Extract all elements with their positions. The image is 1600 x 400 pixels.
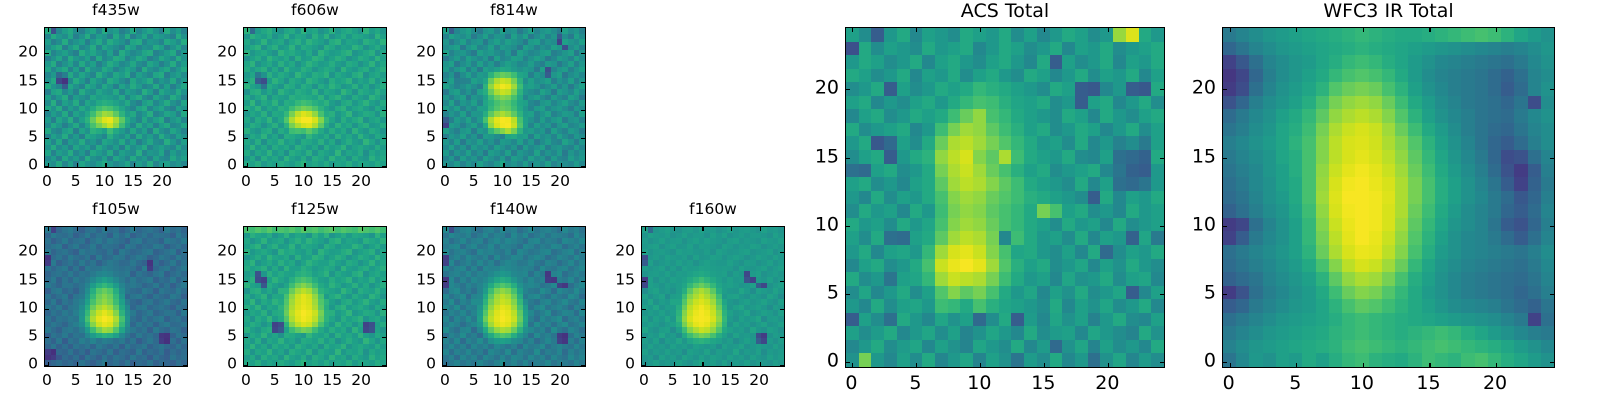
y-tick-mark bbox=[1550, 158, 1554, 159]
x-tick-mark bbox=[674, 362, 675, 366]
x-tick-mark bbox=[276, 362, 277, 366]
x-tick-mark bbox=[503, 227, 504, 231]
panel-title-f160w: f160w bbox=[641, 202, 785, 218]
x-tick-label: 15 bbox=[322, 373, 342, 389]
x-tick-mark bbox=[1363, 28, 1364, 32]
y-tick-label: 20 bbox=[0, 244, 38, 260]
y-tick-mark bbox=[183, 252, 187, 253]
heatmap-axes-f606w[interactable] bbox=[243, 27, 387, 168]
x-tick-mark bbox=[475, 227, 476, 231]
y-tick-label: 15 bbox=[398, 272, 436, 288]
x-tick-label: 20 bbox=[1095, 374, 1119, 393]
y-tick-mark bbox=[1160, 226, 1164, 227]
y-tick-mark bbox=[183, 110, 187, 111]
x-tick-mark bbox=[362, 28, 363, 32]
y-tick-label: 15 bbox=[0, 73, 38, 89]
x-tick-mark bbox=[163, 362, 164, 366]
y-tick-mark bbox=[846, 89, 850, 90]
x-tick-mark bbox=[333, 163, 334, 167]
x-tick-mark bbox=[446, 227, 447, 231]
y-tick-mark bbox=[581, 82, 585, 83]
x-tick-mark bbox=[362, 362, 363, 366]
y-tick-mark bbox=[1223, 362, 1227, 363]
y-tick-mark bbox=[382, 166, 386, 167]
y-tick-mark bbox=[244, 337, 248, 338]
x-tick-mark bbox=[1044, 28, 1045, 32]
x-tick-mark bbox=[105, 362, 106, 366]
y-tick-label: 5 bbox=[398, 328, 436, 344]
x-tick-label: 20 bbox=[550, 373, 570, 389]
x-tick-label: 0 bbox=[241, 373, 251, 389]
y-tick-label: 10 bbox=[1167, 215, 1216, 234]
x-tick-label: 5 bbox=[270, 373, 280, 389]
y-tick-mark bbox=[1550, 362, 1554, 363]
x-tick-mark bbox=[276, 28, 277, 32]
x-tick-mark bbox=[48, 28, 49, 32]
x-tick-mark bbox=[475, 163, 476, 167]
x-tick-mark bbox=[1108, 28, 1109, 32]
x-tick-mark bbox=[731, 362, 732, 366]
y-tick-label: 0 bbox=[790, 352, 839, 371]
panel-title-f125w: f125w bbox=[243, 202, 387, 218]
y-tick-mark bbox=[642, 365, 646, 366]
y-tick-mark bbox=[1223, 158, 1227, 159]
y-tick-label: 15 bbox=[597, 272, 635, 288]
y-tick-mark bbox=[443, 337, 447, 338]
y-tick-label: 0 bbox=[199, 157, 237, 173]
y-tick-mark bbox=[846, 362, 850, 363]
x-tick-mark bbox=[852, 28, 853, 32]
y-tick-label: 0 bbox=[0, 356, 38, 372]
x-tick-label: 15 bbox=[123, 373, 143, 389]
heatmap-axes-f814w[interactable] bbox=[442, 27, 586, 168]
panel-acs_total: ACS Total0510152005101520 bbox=[790, 0, 1165, 400]
panel-f105w: f105w0510152005101520 bbox=[0, 199, 188, 399]
x-tick-label: 0 bbox=[42, 373, 52, 389]
y-tick-label: 5 bbox=[0, 328, 38, 344]
heatmap-grid-f160w bbox=[642, 227, 784, 366]
y-tick-mark bbox=[1550, 89, 1554, 90]
y-tick-mark bbox=[244, 309, 248, 310]
x-tick-label: 10 bbox=[493, 373, 513, 389]
x-tick-mark bbox=[134, 362, 135, 366]
x-tick-label: 15 bbox=[322, 174, 342, 190]
panel-title-f606w: f606w bbox=[243, 3, 387, 19]
x-tick-label: 10 bbox=[1350, 374, 1374, 393]
x-tick-mark bbox=[916, 363, 917, 367]
x-tick-label: 15 bbox=[123, 174, 143, 190]
y-tick-mark bbox=[382, 110, 386, 111]
y-tick-mark bbox=[642, 281, 646, 282]
heatmap-axes-f125w[interactable] bbox=[243, 226, 387, 367]
panel-title-wfc3_ir_total: WFC3 IR Total bbox=[1222, 2, 1555, 21]
y-tick-mark bbox=[1223, 226, 1227, 227]
x-tick-mark bbox=[304, 362, 305, 366]
x-tick-mark bbox=[105, 227, 106, 231]
y-tick-mark bbox=[1160, 294, 1164, 295]
y-tick-mark bbox=[183, 365, 187, 366]
y-tick-label: 20 bbox=[1167, 79, 1216, 98]
x-tick-label: 15 bbox=[1031, 374, 1055, 393]
x-tick-mark bbox=[1496, 28, 1497, 32]
y-tick-mark bbox=[45, 82, 49, 83]
x-tick-mark bbox=[362, 227, 363, 231]
heatmap-grid-f140w bbox=[443, 227, 585, 366]
x-tick-mark bbox=[1044, 363, 1045, 367]
y-tick-mark bbox=[1160, 89, 1164, 90]
x-tick-mark bbox=[702, 362, 703, 366]
x-tick-label: 10 bbox=[294, 174, 314, 190]
x-tick-mark bbox=[731, 227, 732, 231]
x-tick-label: 20 bbox=[550, 174, 570, 190]
y-tick-mark bbox=[382, 281, 386, 282]
y-tick-mark bbox=[1550, 226, 1554, 227]
y-tick-mark bbox=[45, 281, 49, 282]
y-tick-mark bbox=[642, 337, 646, 338]
y-tick-mark bbox=[382, 53, 386, 54]
heatmap-grid-f606w bbox=[244, 28, 386, 167]
x-tick-mark bbox=[475, 28, 476, 32]
y-tick-mark bbox=[780, 365, 784, 366]
x-tick-mark bbox=[1296, 28, 1297, 32]
y-tick-label: 10 bbox=[199, 101, 237, 117]
y-tick-mark bbox=[45, 337, 49, 338]
panel-f140w: f140w0510152005101520 bbox=[398, 199, 586, 399]
x-tick-mark bbox=[702, 227, 703, 231]
panel-f435w: f435w0510152005101520 bbox=[0, 0, 188, 200]
x-tick-mark bbox=[645, 227, 646, 231]
x-tick-mark bbox=[852, 363, 853, 367]
x-tick-mark bbox=[48, 227, 49, 231]
figure-canvas: f435w0510152005101520f606w05101520051015… bbox=[0, 0, 1600, 400]
y-tick-label: 10 bbox=[199, 300, 237, 316]
y-tick-label: 10 bbox=[398, 101, 436, 117]
panel-f606w: f606w0510152005101520 bbox=[199, 0, 387, 200]
y-tick-label: 15 bbox=[199, 73, 237, 89]
panel-title-acs_total: ACS Total bbox=[845, 2, 1165, 21]
y-tick-label: 20 bbox=[597, 244, 635, 260]
y-tick-mark bbox=[642, 252, 646, 253]
x-tick-label: 10 bbox=[967, 374, 991, 393]
y-tick-mark bbox=[443, 309, 447, 310]
y-tick-mark bbox=[183, 337, 187, 338]
panel-title-f140w: f140w bbox=[442, 202, 586, 218]
y-tick-mark bbox=[443, 82, 447, 83]
y-tick-label: 15 bbox=[1167, 147, 1216, 166]
y-tick-mark bbox=[45, 365, 49, 366]
y-tick-mark bbox=[642, 309, 646, 310]
x-tick-label: 0 bbox=[1223, 374, 1235, 393]
y-tick-mark bbox=[443, 252, 447, 253]
panel-f814w: f814w0510152005101520 bbox=[398, 0, 586, 200]
x-tick-label: 20 bbox=[351, 174, 371, 190]
x-tick-label: 0 bbox=[42, 174, 52, 190]
y-tick-mark bbox=[45, 309, 49, 310]
y-tick-label: 5 bbox=[790, 283, 839, 302]
y-tick-mark bbox=[244, 110, 248, 111]
y-tick-label: 20 bbox=[199, 45, 237, 61]
x-tick-mark bbox=[760, 227, 761, 231]
y-tick-mark bbox=[846, 294, 850, 295]
x-tick-mark bbox=[333, 227, 334, 231]
x-tick-label: 20 bbox=[351, 373, 371, 389]
y-tick-label: 20 bbox=[398, 45, 436, 61]
y-tick-mark bbox=[382, 252, 386, 253]
x-tick-label: 0 bbox=[241, 174, 251, 190]
x-tick-mark bbox=[1429, 28, 1430, 32]
y-tick-label: 15 bbox=[398, 73, 436, 89]
y-tick-label: 0 bbox=[398, 157, 436, 173]
heatmap-grid-f435w bbox=[45, 28, 187, 167]
x-tick-mark bbox=[77, 362, 78, 366]
y-tick-mark bbox=[581, 309, 585, 310]
x-tick-mark bbox=[532, 163, 533, 167]
y-tick-mark bbox=[183, 82, 187, 83]
y-tick-label: 20 bbox=[790, 79, 839, 98]
y-tick-label: 15 bbox=[199, 272, 237, 288]
x-tick-label: 5 bbox=[71, 373, 81, 389]
y-tick-label: 10 bbox=[597, 300, 635, 316]
y-tick-mark bbox=[244, 252, 248, 253]
x-tick-label: 10 bbox=[692, 373, 712, 389]
x-tick-mark bbox=[276, 163, 277, 167]
panel-f125w: f125w0510152005101520 bbox=[199, 199, 387, 399]
y-tick-label: 10 bbox=[0, 300, 38, 316]
y-tick-mark bbox=[443, 110, 447, 111]
x-tick-mark bbox=[77, 28, 78, 32]
x-tick-mark bbox=[980, 363, 981, 367]
x-tick-label: 0 bbox=[845, 374, 857, 393]
x-tick-mark bbox=[333, 28, 334, 32]
x-tick-mark bbox=[304, 28, 305, 32]
y-tick-label: 20 bbox=[398, 244, 436, 260]
x-tick-mark bbox=[77, 227, 78, 231]
x-tick-label: 0 bbox=[440, 174, 450, 190]
y-tick-mark bbox=[1160, 158, 1164, 159]
x-tick-label: 15 bbox=[1416, 374, 1440, 393]
y-tick-label: 0 bbox=[597, 356, 635, 372]
y-tick-label: 15 bbox=[790, 147, 839, 166]
x-tick-mark bbox=[503, 362, 504, 366]
y-tick-mark bbox=[45, 252, 49, 253]
y-tick-mark bbox=[244, 53, 248, 54]
x-tick-label: 20 bbox=[1483, 374, 1507, 393]
y-tick-mark bbox=[45, 138, 49, 139]
x-tick-mark bbox=[247, 227, 248, 231]
panel-wfc3_ir_total: WFC3 IR Total0510152005101520 bbox=[1167, 0, 1555, 400]
y-tick-mark bbox=[382, 138, 386, 139]
x-tick-label: 5 bbox=[1289, 374, 1301, 393]
x-tick-label: 0 bbox=[440, 373, 450, 389]
y-tick-mark bbox=[183, 309, 187, 310]
x-tick-label: 20 bbox=[749, 373, 769, 389]
y-tick-mark bbox=[183, 281, 187, 282]
x-tick-mark bbox=[503, 28, 504, 32]
y-tick-mark bbox=[846, 226, 850, 227]
y-tick-mark bbox=[244, 82, 248, 83]
y-tick-mark bbox=[780, 309, 784, 310]
y-tick-label: 10 bbox=[398, 300, 436, 316]
x-tick-mark bbox=[77, 163, 78, 167]
y-tick-mark bbox=[443, 166, 447, 167]
x-tick-mark bbox=[561, 163, 562, 167]
x-tick-label: 20 bbox=[152, 174, 172, 190]
x-tick-mark bbox=[446, 28, 447, 32]
y-tick-mark bbox=[780, 337, 784, 338]
y-tick-label: 15 bbox=[0, 272, 38, 288]
y-tick-mark bbox=[581, 53, 585, 54]
y-tick-label: 0 bbox=[199, 356, 237, 372]
x-tick-mark bbox=[980, 28, 981, 32]
x-tick-mark bbox=[362, 163, 363, 167]
x-tick-mark bbox=[1230, 363, 1231, 367]
x-tick-mark bbox=[247, 28, 248, 32]
x-tick-mark bbox=[561, 227, 562, 231]
x-tick-mark bbox=[916, 28, 917, 32]
heatmap-grid-wfc3_ir_total bbox=[1223, 28, 1554, 367]
y-tick-mark bbox=[846, 158, 850, 159]
x-tick-mark bbox=[163, 28, 164, 32]
y-tick-mark bbox=[443, 138, 447, 139]
y-tick-mark bbox=[244, 166, 248, 167]
x-tick-mark bbox=[561, 28, 562, 32]
y-tick-mark bbox=[382, 337, 386, 338]
x-tick-mark bbox=[304, 227, 305, 231]
x-tick-mark bbox=[1296, 363, 1297, 367]
x-tick-mark bbox=[1230, 28, 1231, 32]
x-tick-mark bbox=[532, 28, 533, 32]
y-tick-mark bbox=[780, 281, 784, 282]
x-tick-mark bbox=[475, 362, 476, 366]
y-tick-mark bbox=[45, 53, 49, 54]
y-tick-label: 5 bbox=[398, 129, 436, 145]
y-tick-label: 5 bbox=[199, 328, 237, 344]
x-tick-mark bbox=[105, 163, 106, 167]
x-tick-mark bbox=[760, 362, 761, 366]
heatmap-grid-f105w bbox=[45, 227, 187, 366]
y-tick-mark bbox=[244, 281, 248, 282]
x-tick-label: 20 bbox=[152, 373, 172, 389]
panel-title-f814w: f814w bbox=[442, 3, 586, 19]
heatmap-axes-f105w[interactable] bbox=[44, 226, 188, 367]
y-tick-mark bbox=[581, 166, 585, 167]
x-tick-label: 5 bbox=[469, 373, 479, 389]
y-tick-label: 0 bbox=[1167, 352, 1216, 371]
y-tick-mark bbox=[1223, 89, 1227, 90]
y-tick-mark bbox=[183, 166, 187, 167]
x-tick-mark bbox=[134, 227, 135, 231]
x-tick-label: 10 bbox=[493, 174, 513, 190]
y-tick-label: 10 bbox=[0, 101, 38, 117]
x-tick-mark bbox=[674, 227, 675, 231]
y-tick-mark bbox=[443, 53, 447, 54]
y-tick-mark bbox=[581, 110, 585, 111]
y-tick-mark bbox=[244, 365, 248, 366]
x-tick-label: 5 bbox=[71, 174, 81, 190]
y-tick-mark bbox=[1223, 294, 1227, 295]
y-tick-label: 0 bbox=[398, 356, 436, 372]
x-tick-mark bbox=[134, 28, 135, 32]
heatmap-grid-f814w bbox=[443, 28, 585, 167]
heatmap-axes-f140w[interactable] bbox=[442, 226, 586, 367]
y-tick-label: 20 bbox=[0, 45, 38, 61]
panel-title-f105w: f105w bbox=[44, 202, 188, 218]
x-tick-mark bbox=[1496, 363, 1497, 367]
x-tick-label: 10 bbox=[95, 174, 115, 190]
x-tick-label: 15 bbox=[521, 174, 541, 190]
y-tick-mark bbox=[382, 82, 386, 83]
x-tick-label: 0 bbox=[639, 373, 649, 389]
x-tick-label: 15 bbox=[521, 373, 541, 389]
x-tick-mark bbox=[304, 163, 305, 167]
y-tick-label: 10 bbox=[790, 215, 839, 234]
x-tick-mark bbox=[532, 227, 533, 231]
panel-title-f435w: f435w bbox=[44, 3, 188, 19]
x-tick-mark bbox=[1108, 363, 1109, 367]
x-tick-mark bbox=[276, 227, 277, 231]
y-tick-mark bbox=[1160, 362, 1164, 363]
heatmap-axes-f435w[interactable] bbox=[44, 27, 188, 168]
y-tick-label: 0 bbox=[0, 157, 38, 173]
y-tick-mark bbox=[45, 110, 49, 111]
y-tick-mark bbox=[581, 138, 585, 139]
y-tick-mark bbox=[1550, 294, 1554, 295]
y-tick-label: 5 bbox=[597, 328, 635, 344]
x-tick-mark bbox=[532, 362, 533, 366]
y-tick-mark bbox=[780, 252, 784, 253]
x-tick-mark bbox=[163, 163, 164, 167]
y-tick-label: 5 bbox=[0, 129, 38, 145]
x-tick-mark bbox=[163, 227, 164, 231]
y-tick-mark bbox=[183, 138, 187, 139]
x-tick-label: 5 bbox=[909, 374, 921, 393]
panel-f160w: f160w0510152005101520 bbox=[597, 199, 785, 399]
x-tick-label: 10 bbox=[95, 373, 115, 389]
x-tick-label: 5 bbox=[469, 174, 479, 190]
y-tick-mark bbox=[244, 138, 248, 139]
heatmap-axes-f160w[interactable] bbox=[641, 226, 785, 367]
y-tick-label: 5 bbox=[199, 129, 237, 145]
x-tick-label: 10 bbox=[294, 373, 314, 389]
heatmap-grid-acs_total bbox=[846, 28, 1164, 367]
y-tick-label: 20 bbox=[199, 244, 237, 260]
y-tick-mark bbox=[443, 281, 447, 282]
y-tick-mark bbox=[382, 365, 386, 366]
y-tick-mark bbox=[581, 365, 585, 366]
x-tick-mark bbox=[134, 163, 135, 167]
y-tick-mark bbox=[183, 53, 187, 54]
x-tick-mark bbox=[1429, 363, 1430, 367]
x-tick-mark bbox=[561, 362, 562, 366]
y-tick-label: 5 bbox=[1167, 283, 1216, 302]
y-tick-mark bbox=[581, 337, 585, 338]
x-tick-label: 5 bbox=[668, 373, 678, 389]
y-tick-mark bbox=[45, 166, 49, 167]
x-tick-mark bbox=[333, 362, 334, 366]
y-tick-mark bbox=[581, 252, 585, 253]
y-tick-mark bbox=[581, 281, 585, 282]
y-tick-mark bbox=[382, 309, 386, 310]
x-tick-mark bbox=[1363, 363, 1364, 367]
y-tick-mark bbox=[443, 365, 447, 366]
x-tick-mark bbox=[105, 28, 106, 32]
x-tick-mark bbox=[503, 163, 504, 167]
heatmap-axes-wfc3_ir_total[interactable] bbox=[1222, 27, 1555, 368]
x-tick-label: 5 bbox=[270, 174, 280, 190]
x-tick-label: 15 bbox=[720, 373, 740, 389]
heatmap-axes-acs_total[interactable] bbox=[845, 27, 1165, 368]
heatmap-grid-f125w bbox=[244, 227, 386, 366]
